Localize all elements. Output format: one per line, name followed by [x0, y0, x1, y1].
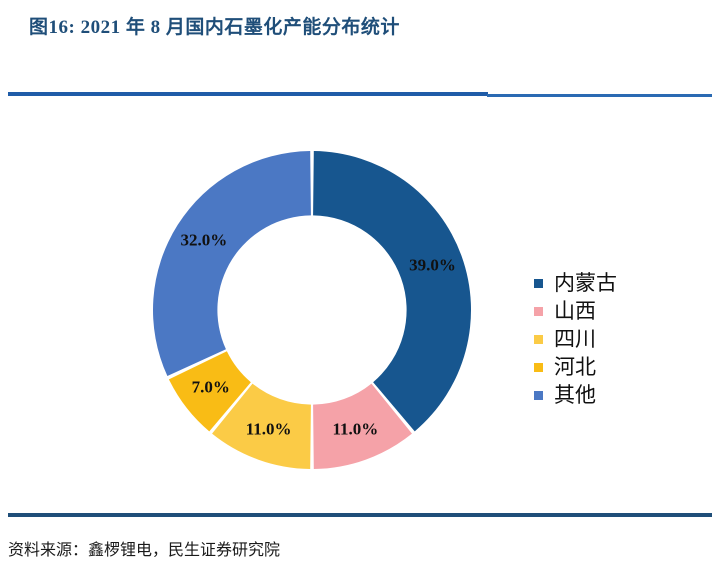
- legend-item-label: 四川: [554, 329, 596, 350]
- header-rule-left: [8, 92, 488, 96]
- legend-item-label: 山西: [554, 301, 596, 322]
- legend-item[interactable]: 山西: [534, 300, 617, 322]
- donut-slice-label: 11.0%: [332, 419, 378, 438]
- legend-item[interactable]: 内蒙古: [534, 272, 617, 294]
- header-rule-right: [487, 94, 712, 97]
- chart-area: 39.0%11.0%11.0%7.0%32.0% 内蒙古山西四川河北其他: [0, 105, 720, 505]
- donut-slice-group: [153, 151, 471, 469]
- donut-slice-label: 11.0%: [246, 419, 292, 438]
- donut-slice-label: 32.0%: [180, 230, 227, 249]
- donut-slice[interactable]: [153, 151, 311, 376]
- legend-item-label: 河北: [554, 357, 596, 378]
- legend-swatch-icon: [534, 335, 543, 344]
- legend-swatch-icon: [534, 307, 543, 316]
- legend-item[interactable]: 四川: [534, 328, 617, 350]
- legend-swatch-icon: [534, 279, 543, 288]
- legend-item[interactable]: 其他: [534, 384, 617, 406]
- donut-slice[interactable]: [313, 151, 471, 431]
- donut-slice-label: 7.0%: [192, 377, 230, 396]
- footer-rule: [8, 513, 712, 517]
- donut-chart: 39.0%11.0%11.0%7.0%32.0%: [152, 150, 472, 470]
- legend-swatch-icon: [534, 363, 543, 372]
- legend-item-label: 内蒙古: [554, 273, 617, 294]
- donut-slice-label: 39.0%: [409, 256, 456, 275]
- legend-item-label: 其他: [554, 385, 596, 406]
- legend-swatch-icon: [534, 391, 543, 400]
- chart-legend: 内蒙古山西四川河北其他: [534, 272, 617, 406]
- legend-item[interactable]: 河北: [534, 356, 617, 378]
- source-note: 资料来源：鑫椤锂电，民生证券研究院: [8, 536, 280, 560]
- page-title: 图16: 2021 年 8 月国内石墨化产能分布统计: [29, 12, 400, 39]
